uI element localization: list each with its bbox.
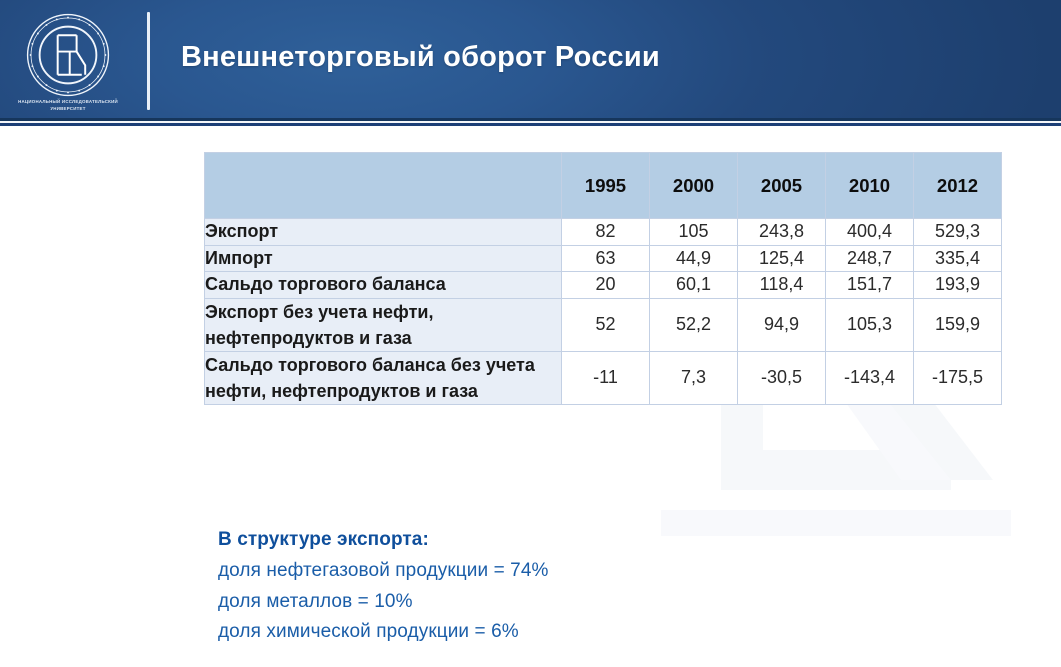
- cell-import-2005: 125,4: [738, 245, 826, 272]
- table-row: Экспорт 82 105 243,8 400,4 529,3: [205, 219, 1002, 246]
- cell-export-2010: 400,4: [826, 219, 914, 246]
- row-label-import: Импорт: [205, 245, 562, 272]
- cell-balance-excl-oil-2000: 7,3: [650, 351, 738, 404]
- cell-export-excl-oil-1995: 52: [562, 298, 650, 351]
- table-header-blank: [205, 153, 562, 219]
- cell-import-2012: 335,4: [914, 245, 1002, 272]
- cell-export-2012: 529,3: [914, 219, 1002, 246]
- cell-export-1995: 82: [562, 219, 650, 246]
- notes-line-chemicals: доля химической продукции = 6%: [218, 617, 548, 648]
- table-row: Импорт 63 44,9 125,4 248,7 335,4: [205, 245, 1002, 272]
- table-header-year-2010: 2010: [826, 153, 914, 219]
- cell-balance-2010: 151,7: [826, 272, 914, 299]
- cell-export-excl-oil-2010: 105,3: [826, 298, 914, 351]
- header-underline-blue: [0, 123, 1061, 126]
- row-label-export-excl-oil: Экспорт без учета нефти, нефтепродуктов …: [205, 298, 562, 351]
- notes-line-oil-gas: доля нефтегазовой продукции = 74%: [218, 556, 548, 587]
- table-header-year-2005: 2005: [738, 153, 826, 219]
- cell-import-2010: 248,7: [826, 245, 914, 272]
- table-header-year-2000: 2000: [650, 153, 738, 219]
- notes-line-metals: доля металлов = 10%: [218, 587, 548, 618]
- cell-balance-excl-oil-1995: -11: [562, 351, 650, 404]
- export-structure-notes: В структуре экспорта: доля нефтегазовой …: [218, 525, 548, 648]
- cell-balance-excl-oil-2012: -175,5: [914, 351, 1002, 404]
- cell-balance-2012: 193,9: [914, 272, 1002, 299]
- cell-balance-excl-oil-2005: -30,5: [738, 351, 826, 404]
- cell-export-2000: 105: [650, 219, 738, 246]
- cell-balance-2005: 118,4: [738, 272, 826, 299]
- table-row: Сальдо торгового баланса без учета нефти…: [205, 351, 1002, 404]
- table-row: Экспорт без учета нефти, нефтепродуктов …: [205, 298, 1002, 351]
- hse-logo: НАЦИОНАЛЬНЫЙ ИССЛЕДОВАТЕЛЬСКИЙ УНИВЕРСИТ…: [14, 12, 122, 116]
- header-vertical-divider: [147, 12, 150, 110]
- trade-statistics-table: 1995 2000 2005 2010 2012 Экспорт 82 105 …: [204, 152, 1002, 405]
- table-row: Сальдо торгового баланса 20 60,1 118,4 1…: [205, 272, 1002, 299]
- cell-export-2005: 243,8: [738, 219, 826, 246]
- notes-title: В структуре экспорта:: [218, 525, 548, 556]
- hse-logo-subtitle: НАЦИОНАЛЬНЫЙ ИССЛЕДОВАТЕЛЬСКИЙ УНИВЕРСИТ…: [14, 99, 122, 113]
- row-label-export: Экспорт: [205, 219, 562, 246]
- trade-statistics-table-container: 1995 2000 2005 2010 2012 Экспорт 82 105 …: [204, 152, 1001, 405]
- table-header-row: 1995 2000 2005 2010 2012: [205, 153, 1002, 219]
- cell-export-excl-oil-2000: 52,2: [650, 298, 738, 351]
- row-label-balance-excl-oil: Сальдо торгового баланса без учета нефти…: [205, 351, 562, 404]
- cell-balance-1995: 20: [562, 272, 650, 299]
- cell-balance-2000: 60,1: [650, 272, 738, 299]
- cell-import-1995: 63: [562, 245, 650, 272]
- table-header-year-1995: 1995: [562, 153, 650, 219]
- cell-export-excl-oil-2012: 159,9: [914, 298, 1002, 351]
- cell-export-excl-oil-2005: 94,9: [738, 298, 826, 351]
- cell-balance-excl-oil-2010: -143,4: [826, 351, 914, 404]
- hse-emblem-icon: [25, 12, 111, 98]
- page-title: Внешнеторговый оборот России: [181, 41, 660, 74]
- row-label-trade-balance: Сальдо торгового баланса: [205, 272, 562, 299]
- cell-import-2000: 44,9: [650, 245, 738, 272]
- table-header-year-2012: 2012: [914, 153, 1002, 219]
- slide-header-banner: НАЦИОНАЛЬНЫЙ ИССЛЕДОВАТЕЛЬСКИЙ УНИВЕРСИТ…: [0, 0, 1061, 121]
